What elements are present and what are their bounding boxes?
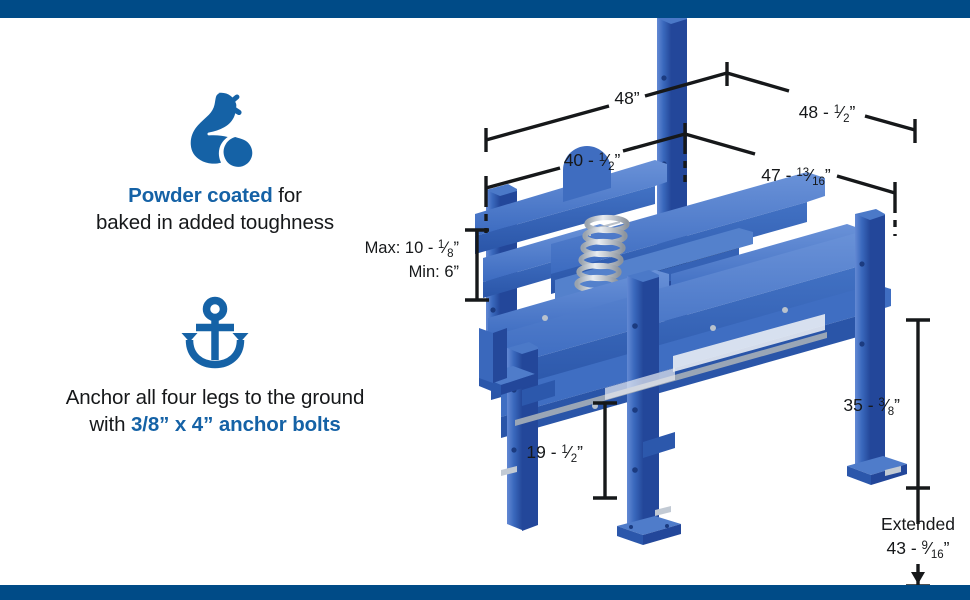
feature-powder-coated-rest: for: [273, 184, 302, 207]
feature-anchor-line2-highlight: 3/8” x 4” anchor bolts: [131, 413, 341, 436]
product-spec-infographic: Powder coated for baked in added toughne…: [0, 0, 970, 600]
product-dimension-diagram: 48” 40 - 1⁄2” 48 - 1⁄2” 47 - 13⁄16” Max:…: [355, 18, 970, 585]
equipment-stand-illustration: [355, 18, 970, 585]
feature-powder-coated-highlight: Powder coated: [128, 184, 273, 207]
bottom-brand-band: [0, 585, 970, 600]
lower-leg-back-left: [479, 328, 507, 383]
upright-front-right: [847, 209, 907, 485]
feature-anchor-line2-prefix: with: [89, 413, 131, 436]
top-brand-band: [0, 0, 970, 18]
